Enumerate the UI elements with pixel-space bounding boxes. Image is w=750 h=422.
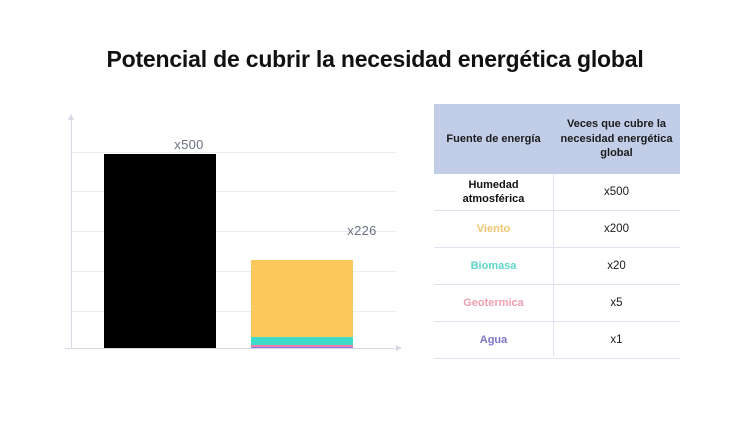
gridline — [71, 152, 396, 153]
bar-humedad-atmosferica — [104, 154, 216, 348]
table-cell-times: x5 — [553, 285, 680, 321]
table-body: Humedad atmosféricax500Vientox200Biomasa… — [434, 174, 680, 359]
bar-segment-biomasa — [251, 337, 353, 345]
table-cell-source: Viento — [434, 211, 553, 247]
page-title: Potencial de cubrir la necesidad energét… — [0, 46, 750, 73]
table-column-divider — [553, 174, 554, 356]
table-cell-source: Agua — [434, 322, 553, 358]
table-cell-times: x200 — [553, 211, 680, 247]
table-cell-times: x500 — [553, 174, 680, 210]
bar-segment-humedad-atmosférica — [104, 154, 216, 348]
table-cell-times: x1 — [553, 322, 680, 358]
table-header-times: Veces que cubre la necesidad energética … — [553, 104, 680, 174]
bar-value-label-1: x500 — [159, 137, 219, 152]
table-cell-source: Biomasa — [434, 248, 553, 284]
y-axis-line — [71, 118, 72, 348]
table-cell-source: Humedad atmosférica — [434, 174, 553, 210]
table-row: Biomasax20 — [434, 248, 680, 285]
table-header-source: Fuente de energía — [434, 104, 553, 174]
energy-source-table: Fuente de energía Veces que cubre la nec… — [434, 104, 680, 359]
x-axis-line — [65, 348, 398, 349]
stacked-bar-chart: x500 x226 — [60, 110, 405, 360]
table-row: Aguax1 — [434, 322, 680, 359]
bar-segment-viento — [251, 260, 353, 338]
bar-segment-agua — [251, 347, 353, 348]
bar-value-label-2: x226 — [332, 223, 392, 238]
x-axis-arrow-icon — [396, 345, 402, 351]
table-header-row: Fuente de energía Veces que cubre la nec… — [434, 104, 680, 174]
table-cell-source: Geotermica — [434, 285, 553, 321]
table-cell-times: x20 — [553, 248, 680, 284]
slide-canvas: Potencial de cubrir la necesidad energét… — [0, 0, 750, 422]
table-row: Vientox200 — [434, 211, 680, 248]
table-row: Humedad atmosféricax500 — [434, 174, 680, 211]
table-row: Geotermicax5 — [434, 285, 680, 322]
bar-renovables-apiladas — [251, 260, 353, 348]
y-axis-arrow-icon — [68, 114, 74, 120]
